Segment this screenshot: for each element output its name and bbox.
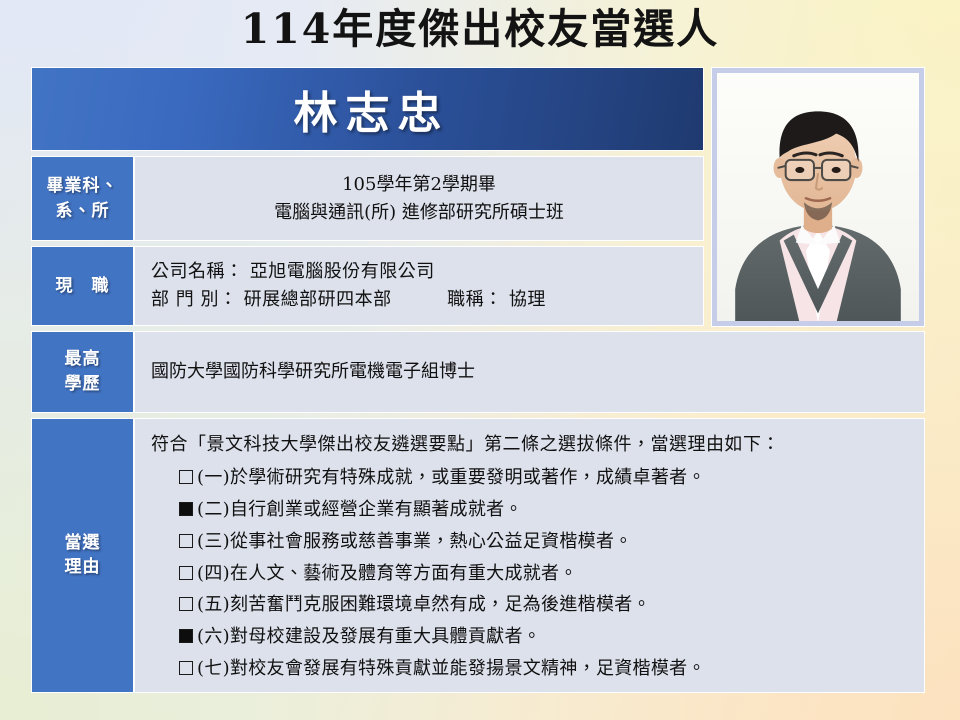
row-value-selection-reasons: 符合「景文科技大學傑出校友遴選要點」第二條之選拔條件，當選理由如下： (一)於學… [134,418,925,693]
checkbox-unchecked-icon[interactable] [179,597,193,611]
reason-item-label: (一)於學術研究有特殊成就，或重要發明或著作，成績卓著者。 [197,464,706,492]
row-value-graduation: 105學年第2學期畢 電腦與通訊(所) 進修部研究所碩士班 [134,156,704,241]
row-label-line: 理由 [65,556,101,580]
checkbox-unchecked-icon[interactable] [179,470,193,484]
reason-item-label: (三)從事社會服務或慈善事業，熱心公益足資楷模者。 [197,528,633,556]
reason-item[interactable]: (三)從事社會服務或慈善事業，熱心公益足資楷模者。 [179,528,914,556]
reason-item[interactable]: (六)對母校建設及發展有重大具體貢獻者。 [179,623,914,651]
reasons-heading: 符合「景文科技大學傑出校友遴選要點」第二條之選拔條件，當選理由如下： [151,431,914,459]
table-row-selection-reasons: 當選 理由 符合「景文科技大學傑出校友遴選要點」第二條之選拔條件，當選理由如下：… [31,418,925,693]
row-label-line: 系、所 [47,199,119,224]
row-label-selection-reasons: 當選 理由 [31,418,134,693]
row-label-line: 當選 [65,532,101,556]
reason-item[interactable]: (二)自行創業或經營企業有顯著成就者。 [179,496,914,524]
reason-item[interactable]: (四)在人文、藝術及體育等方面有重大成就者。 [179,560,914,588]
reason-item-label: (七)對校友會發展有特殊貢獻並能發揚景文精神，足資楷模者。 [197,655,706,683]
alumnus-name: 林志忠 [286,77,450,141]
award-card: 林志忠 [31,67,925,693]
reasons-list: (一)於學術研究有特殊成就，或重要發明或著作，成績卓著者。(二)自行創業或經營企… [149,464,914,687]
reason-item[interactable]: (一)於學術研究有特殊成就，或重要發明或著作，成績卓著者。 [179,464,914,492]
row-label-line: 學歷 [65,372,101,397]
row-label-line: 最高 [65,347,101,372]
checkbox-checked-icon[interactable] [179,629,193,643]
table-row-graduation: 畢業科、 系、所 105學年第2學期畢 電腦與通訊(所) 進修部研究所碩士班 [31,156,704,241]
table-row-current-position: 現 職 公司名稱： 亞旭電腦股份有限公司 部 門 別： 研展總部研四本部 職稱：… [31,246,704,326]
reason-item-label: (四)在人文、藝術及體育等方面有重大成就者。 [197,560,578,588]
row-label-line: 畢業科、 [47,174,119,199]
portrait-photo [717,73,919,321]
graduation-term: 105學年第2學期畢 [342,171,496,199]
reason-item-label: (六)對母校建設及發展有重大具體貢獻者。 [197,623,541,651]
reason-item[interactable]: (五)刻苦奮鬥克服困難環境卓然有成，足為後進楷模者。 [179,591,914,619]
checkbox-unchecked-icon[interactable] [179,534,193,548]
checkbox-unchecked-icon[interactable] [179,566,193,580]
row-value-current-position: 公司名稱： 亞旭電腦股份有限公司 部 門 別： 研展總部研四本部 職稱： 協理 [134,246,704,326]
row-label-highest-education: 最高 學歷 [31,331,134,413]
portrait-illustration [717,73,919,321]
row-value-highest-education: 國防大學國防科學研究所電機電子組博士 [134,331,925,413]
department-and-title: 部 門 別： 研展總部研四本部 職稱： 協理 [151,286,703,314]
reason-item[interactable]: (七)對校友會發展有特殊貢獻並能發揚景文精神，足資楷模者。 [179,655,914,683]
page-title: 114年度傑出校友當選人 [0,6,960,53]
row-label-graduation: 畢業科、 系、所 [31,156,134,241]
reason-item-label: (二)自行創業或經營企業有顯著成就者。 [197,496,523,524]
row-label-line: 現 職 [56,274,110,299]
reason-item-label: (五)刻苦奮鬥克服困難環境卓然有成，足為後進楷模者。 [197,591,651,619]
highest-education-text: 國防大學國防科學研究所電機電子組博士 [151,358,924,386]
checkbox-unchecked-icon[interactable] [179,661,193,675]
name-banner: 林志忠 [31,67,704,151]
slide-background: 114年度傑出校友當選人 林志忠 [0,0,960,720]
portrait-frame [711,67,925,327]
checkbox-checked-icon[interactable] [179,502,193,516]
graduation-department: 電腦與通訊(所) 進修部研究所碩士班 [274,199,564,227]
table-row-highest-education: 最高 學歷 國防大學國防科學研究所電機電子組博士 [31,331,925,413]
row-label-current-position: 現 職 [31,246,134,326]
company-name: 公司名稱： 亞旭電腦股份有限公司 [151,258,703,286]
